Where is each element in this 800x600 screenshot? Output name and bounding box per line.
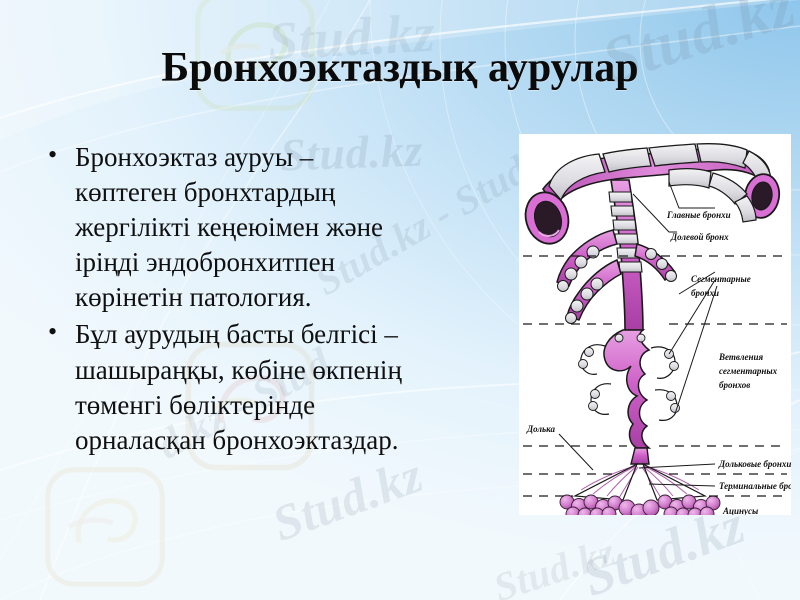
diagram-label: Долевой бронх xyxy=(670,232,729,242)
diagram-label: бронхов xyxy=(719,380,750,390)
bullet-line: орналасқан бронхоэктаздар. xyxy=(75,423,520,458)
list-item: Бұл аурудың басты белгісі – шашыраңқы, к… xyxy=(30,317,520,457)
bullet-line: көрінетін патология. xyxy=(75,280,520,315)
bullet-line: жергілікті кеңеюімен және xyxy=(75,210,520,245)
diagram-label: Терминальные бронхиолы xyxy=(719,481,791,491)
stud-kz-logo-watermark-3 xyxy=(40,462,170,592)
diagram-label: Дольковые бронхи xyxy=(718,459,791,469)
bronchial-tree-diagram: Главные бронхи Долевой бронх Сегментарны… xyxy=(519,134,791,515)
body-text-column: Бронхоэктаз ауруы – көптеген бронхтардың… xyxy=(30,140,520,460)
diagram-label: сегментарных xyxy=(719,366,778,376)
slide: Stud.kz Stud.kz Stud.kz Stud.kz - Stud.k… xyxy=(0,0,800,600)
diagram-label: Главные бронхи xyxy=(666,210,731,220)
diagram-label: бронхи xyxy=(691,288,719,298)
list-item: Бронхоэктаз ауруы – көптеген бронхтардың… xyxy=(30,140,520,315)
page-title: Бронхоэктаздық аурулар xyxy=(0,44,800,92)
bullet-line: шашыраңқы, көбіне өкпенің xyxy=(75,353,520,388)
bullet-line: Бұл аурудың басты белгісі – xyxy=(75,317,520,352)
diagram-label: Ветвления xyxy=(718,352,764,362)
bullet-line: төменгі бөліктерінде xyxy=(75,388,520,423)
diagram-label: Ацинусы xyxy=(722,506,758,515)
diagram-label: Сегментарные xyxy=(691,274,751,284)
bullet-line: іріңді эндобронхитпен xyxy=(75,245,520,280)
bronchial-tree-illustration: Главные бронхи Долевой бронх Сегментарны… xyxy=(519,134,791,515)
bullet-line: Бронхоэктаз ауруы – xyxy=(75,140,520,175)
diagram-label: Долька xyxy=(526,424,555,434)
bullet-line: көптеген бронхтардың xyxy=(75,175,520,210)
